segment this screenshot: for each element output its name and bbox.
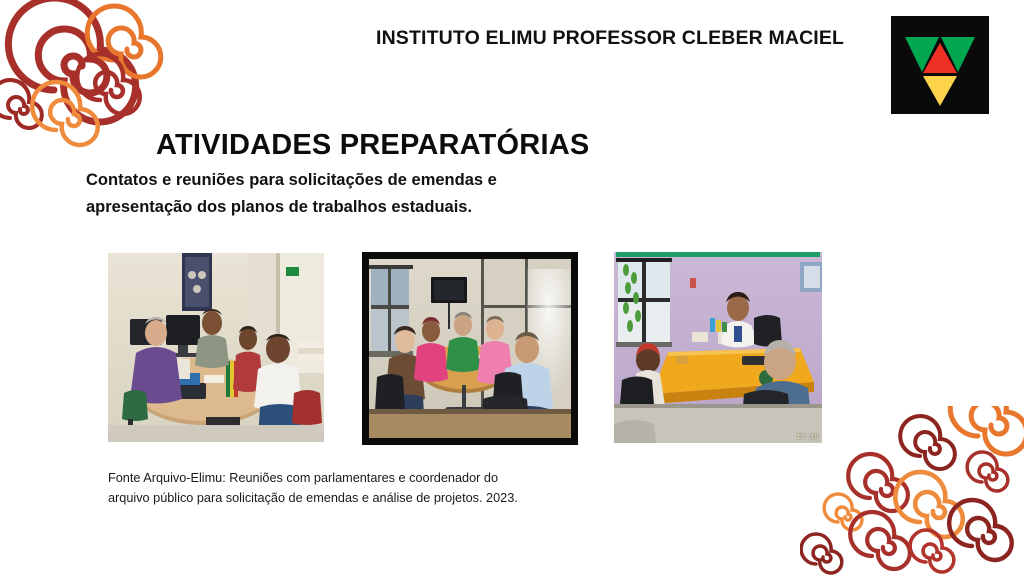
intro-paragraph-line-2: apresentação dos planos de trabalhos est…: [86, 194, 643, 221]
photo-meeting-office-table: [108, 253, 324, 442]
photo-caption-line-1: Fonte Arquivo-Elimu: Reuniões com parlam…: [108, 469, 556, 489]
photo-caption-line-2: arquivo público para solicitação de emen…: [108, 489, 556, 509]
spiral-decoration-top-left-icon: [0, 0, 176, 164]
page-title: ATIVIDADES PREPARATÓRIAS: [156, 129, 589, 162]
intro-paragraph-line-1: Contatos e reuniões para solicitações de…: [86, 167, 643, 194]
spiral-decoration-bottom-right-icon: [800, 406, 1024, 580]
photo-2-inner: [369, 259, 571, 438]
photo-meeting-office-yellow-table: 17:10: [614, 252, 822, 443]
slide-canvas: INSTITUTO ELIMU PROFESSOR CLEBER MACIEL …: [0, 0, 1024, 576]
photo-meeting-conference-room: [362, 252, 578, 445]
elimu-logo: [891, 16, 989, 114]
photo-timestamp: 17:10: [796, 433, 819, 441]
photo-caption: Fonte Arquivo-Elimu: Reuniões com parlam…: [108, 469, 556, 509]
intro-paragraph: Contatos e reuniões para solicitações de…: [86, 167, 643, 220]
organization-title: INSTITUTO ELIMU PROFESSOR CLEBER MACIEL: [376, 27, 876, 50]
